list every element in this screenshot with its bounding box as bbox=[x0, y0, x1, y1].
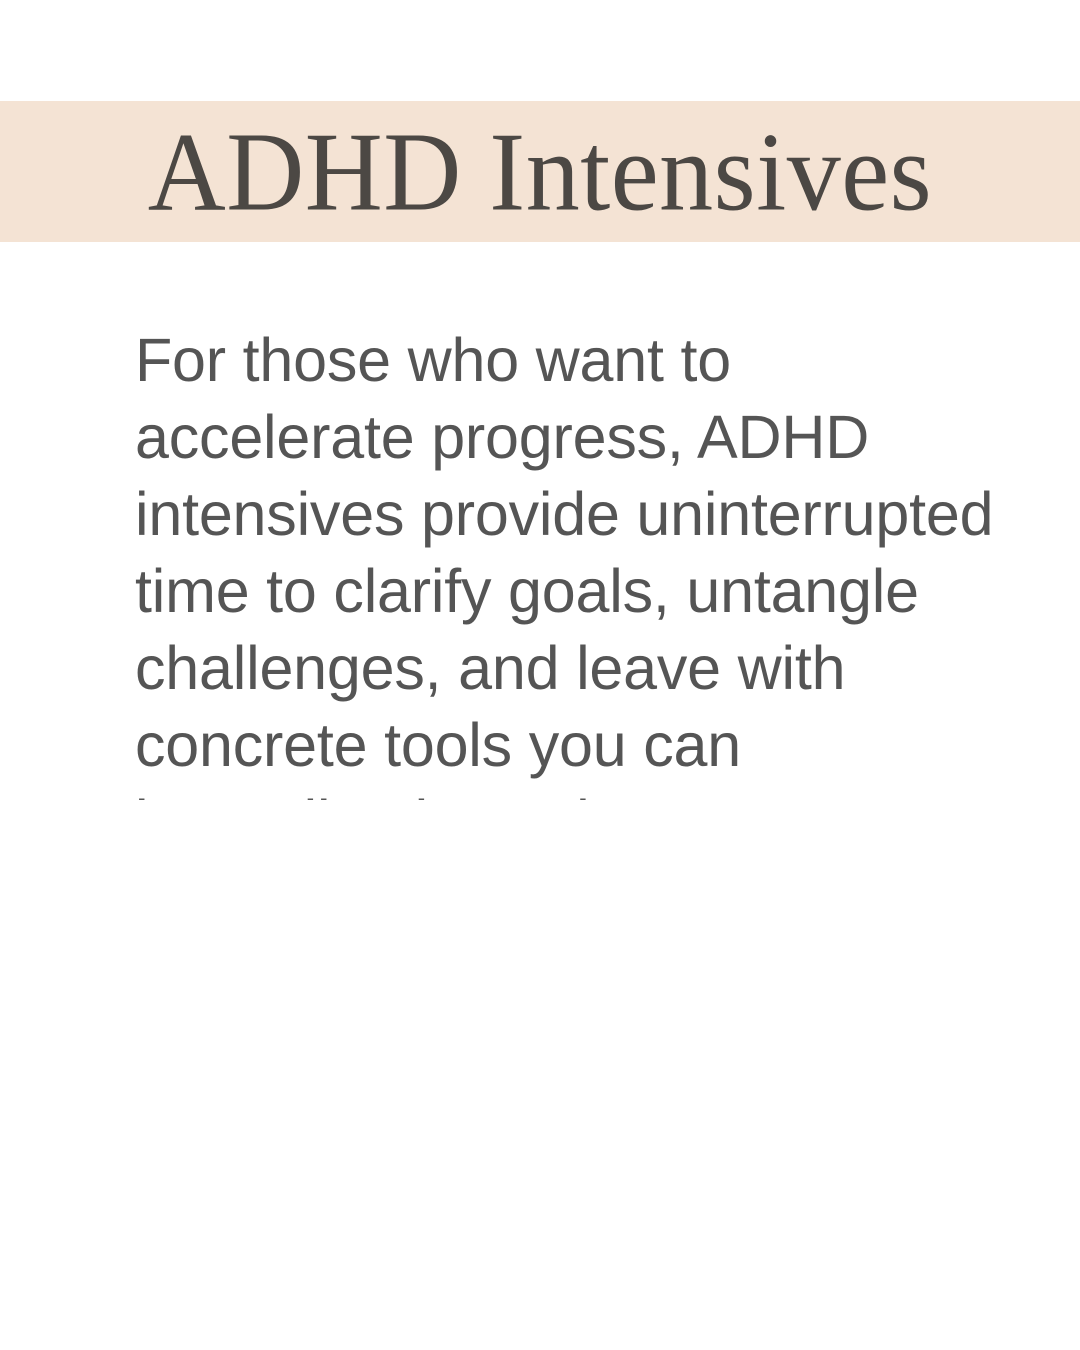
page-title: ADHD Intensives bbox=[148, 116, 932, 228]
title-band: ADHD Intensives bbox=[0, 101, 1080, 242]
body-text-block: For those who want to accelerate progres… bbox=[135, 322, 1015, 861]
slide-canvas: ADHD Intensives For those who want to ac… bbox=[0, 0, 1080, 1350]
description-paragraph: For those who want to accelerate progres… bbox=[135, 322, 1015, 861]
empty-lower-area bbox=[0, 800, 1080, 1350]
